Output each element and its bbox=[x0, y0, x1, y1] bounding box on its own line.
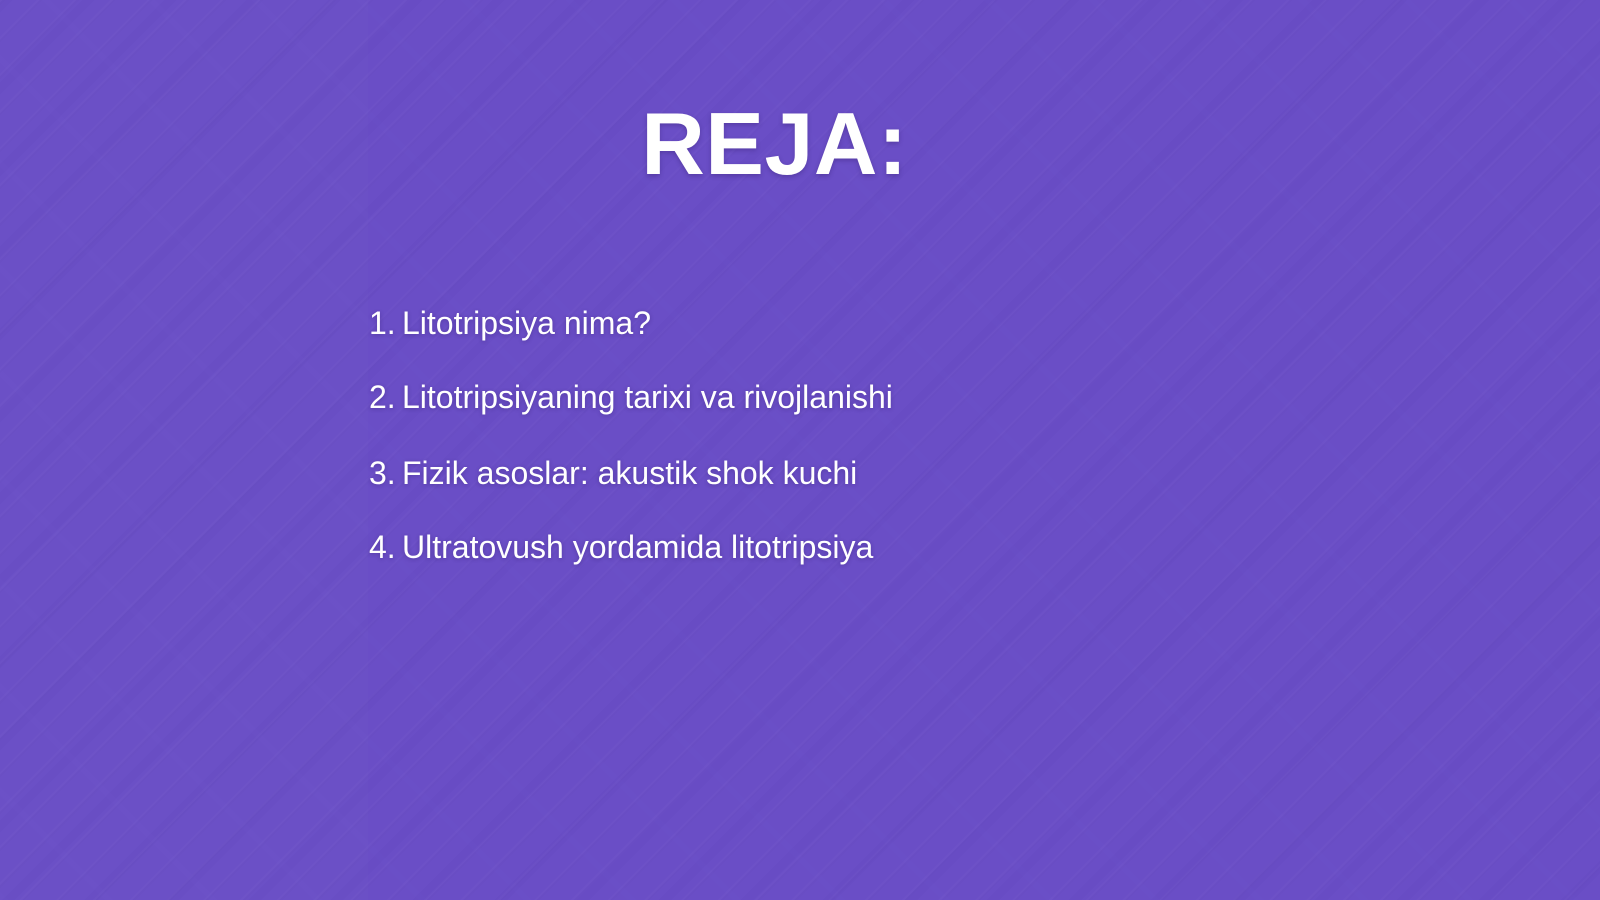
agenda-item-label: Litotripsiyaning tarixi va rivojlanishi bbox=[402, 380, 893, 416]
presentation-slide: REJA: 1. Litotripsiya nima? 2. Litotrips… bbox=[0, 0, 1600, 900]
agenda-item-2: 2. Litotripsiyaning tarixi va rivojlanis… bbox=[369, 380, 1269, 416]
agenda-item-label: Ultratovush yordamida litotripsiya bbox=[402, 530, 873, 566]
agenda-item-number: 3. bbox=[369, 456, 402, 492]
agenda-list: 1. Litotripsiya nima? 2. Litotripsiyanin… bbox=[369, 306, 1269, 566]
agenda-item-label: Litotripsiya nima? bbox=[402, 306, 651, 342]
agenda-item-number: 4. bbox=[369, 530, 402, 566]
agenda-item-4: 4. Ultratovush yordamida litotripsiya bbox=[369, 530, 1269, 566]
agenda-item-number: 1. bbox=[369, 306, 402, 342]
agenda-item-1: 1. Litotripsiya nima? bbox=[369, 306, 1269, 342]
agenda-item-label: Fizik asoslar: akustik shok kuchi bbox=[402, 456, 857, 492]
slide-title: REJA: bbox=[0, 98, 1549, 190]
agenda-item-3: 3. Fizik asoslar: akustik shok kuchi bbox=[369, 456, 1269, 492]
agenda-item-number: 2. bbox=[369, 380, 402, 416]
